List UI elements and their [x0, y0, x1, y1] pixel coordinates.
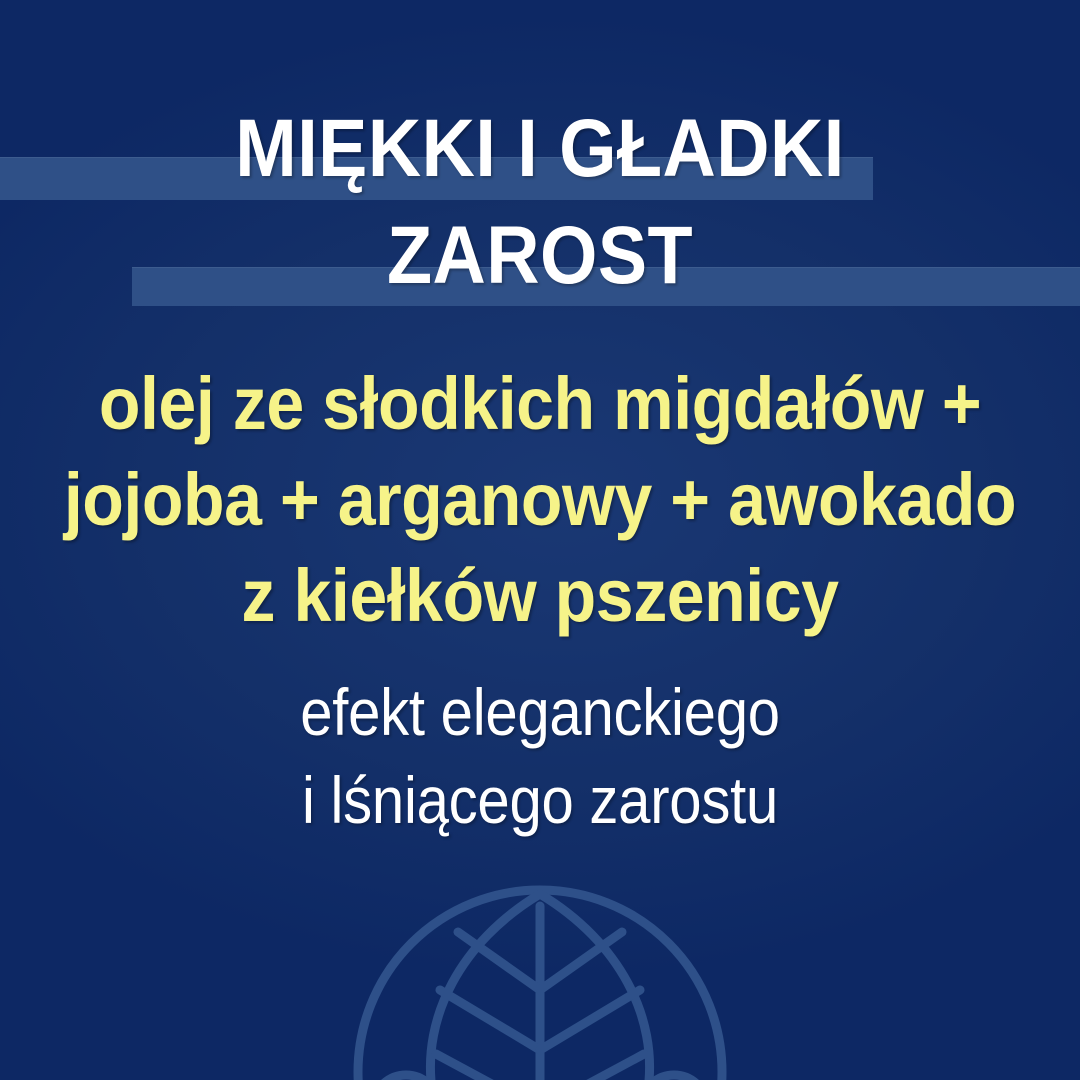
headline-line-1: MIĘKKI I GŁADKI	[54, 96, 1026, 203]
benefit-text: efekt eleganckiego i lśniącego zarostu	[65, 668, 1015, 845]
promo-card: MIĘKKI I GŁADKI ZAROST olej ze słodkich …	[0, 0, 1080, 1080]
content-stack: MIĘKKI I GŁADKI ZAROST olej ze słodkich …	[0, 0, 1080, 1080]
ingredients-line-2: jojoba + arganowy + awokado	[43, 452, 1037, 548]
ingredients-list: olej ze słodkich migdałów + jojoba + arg…	[43, 356, 1037, 645]
benefit-line-1: efekt eleganckiego	[65, 668, 1015, 756]
benefit-line-2: i lśniącego zarostu	[65, 756, 1015, 844]
headline-line-2: ZAROST	[54, 203, 1026, 310]
ingredients-line-3: z kiełków pszenicy	[43, 548, 1037, 644]
ingredients-line-1: olej ze słodkich migdałów +	[43, 356, 1037, 452]
headline: MIĘKKI I GŁADKI ZAROST	[54, 96, 1026, 309]
